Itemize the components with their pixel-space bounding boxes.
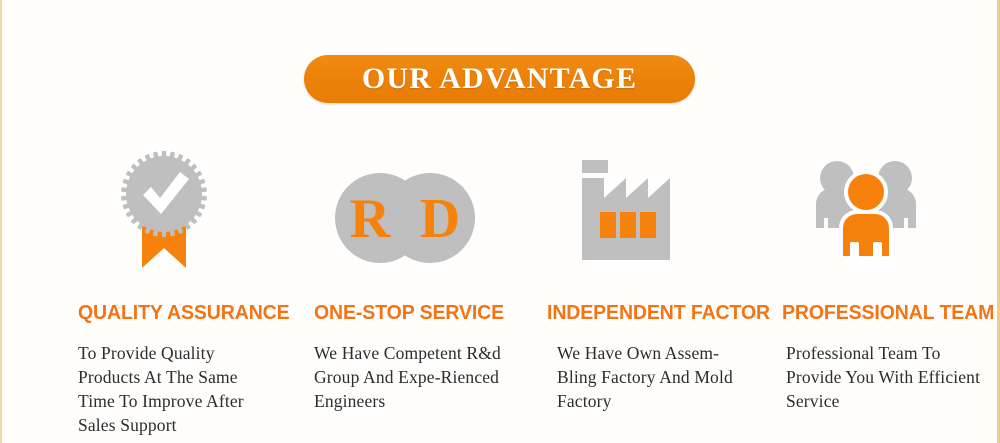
title-banner-container: OUR ADVANTAGE <box>2 55 997 103</box>
quality-badge-ribbon-icon <box>120 150 208 270</box>
rd-circles-icon: R D <box>330 150 480 270</box>
factory-icon <box>574 150 690 270</box>
card-body-text: We Have Competent R&d Group And Expe-Rie… <box>314 341 509 413</box>
advantage-card-quality-assurance: QUALITY ASSURANCE To Provide Quality Pro… <box>74 150 289 437</box>
card-heading: ONE-STOP SERVICE <box>314 301 518 325</box>
team-people-icon <box>806 150 926 270</box>
advantage-card-one-stop-service: R D ONE-STOP SERVICE We Have Competent R… <box>314 150 529 437</box>
title-banner: OUR ADVANTAGE <box>304 55 695 103</box>
card-body-text: To Provide Quality Products At The Same … <box>78 341 273 437</box>
rd-letter-d: D <box>420 188 460 250</box>
card-heading: PROFESSIONAL TEAM <box>782 301 986 325</box>
card-heading: INDEPENDENT FACTOR <box>547 301 751 325</box>
card-heading: QUALITY ASSURANCE <box>78 301 278 325</box>
icon-container <box>782 150 997 270</box>
rd-letter-r: R <box>350 188 391 250</box>
icon-container: R D <box>314 150 529 270</box>
card-body-text: We Have Own Assem-Bling Factory And Mold… <box>557 341 752 413</box>
page-title: OUR ADVANTAGE <box>362 62 637 96</box>
advantage-banner-page: OUR ADVANTAGE <box>0 0 1000 443</box>
advantage-card-list: QUALITY ASSURANCE To Provide Quality Pro… <box>2 150 1000 437</box>
icon-container <box>74 150 289 270</box>
advantage-card-independent-factor: INDEPENDENT FACTOR We Have Own Assem-Bli… <box>547 150 762 437</box>
icon-container <box>547 150 762 270</box>
advantage-card-professional-team: PROFESSIONAL TEAM Professional Team To P… <box>782 150 997 437</box>
card-body-text: Professional Team To Provide You With Ef… <box>786 341 981 413</box>
